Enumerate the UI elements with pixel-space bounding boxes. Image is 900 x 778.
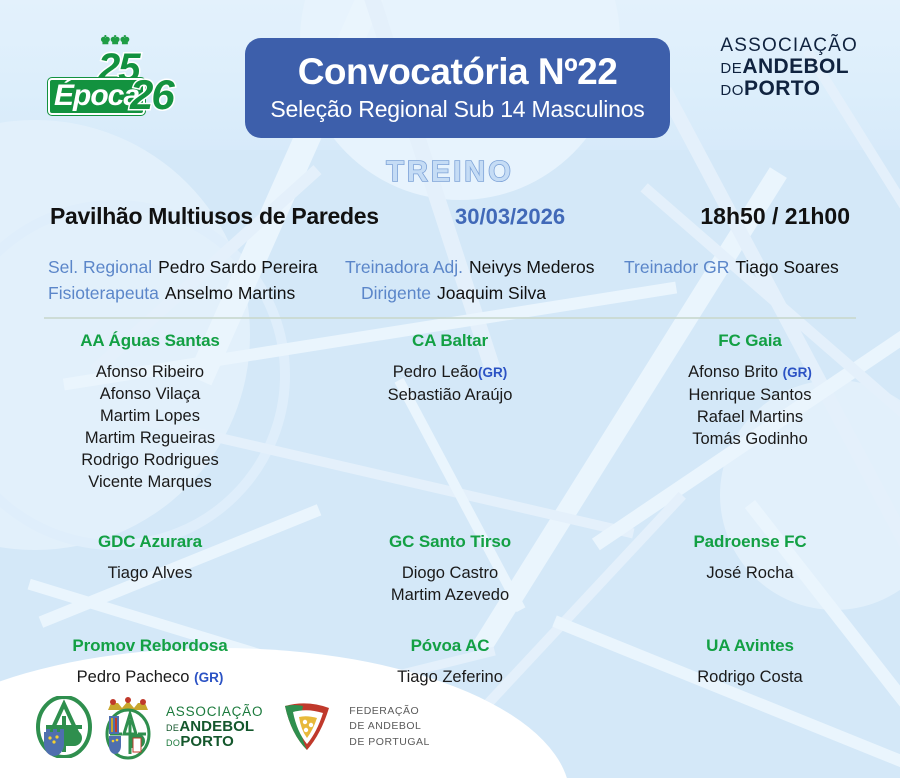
wordmark-line-3: DOPORTO	[720, 78, 858, 100]
club-name: CA Baltar	[308, 331, 592, 351]
player-entry: Diogo Castro	[308, 562, 592, 584]
crown-icon: ♚♚♚	[100, 34, 129, 46]
player-name: Diogo Castro	[402, 564, 498, 582]
player-name: Afonso Brito	[688, 363, 778, 381]
page-subtitle: Seleção Regional Sub 14 Masculinos	[270, 96, 644, 122]
season-end-year: 26	[130, 74, 173, 116]
club-name: FC Gaia	[608, 331, 892, 351]
wordmark-line-2: DEANDEBOL	[720, 56, 858, 78]
club-block-aguas-santas: AA Águas Santas Afonso Ribeiro Afonso Vi…	[0, 331, 300, 493]
player-entry: Rodrigo Costa	[608, 666, 892, 688]
staff-name: Anselmo Martins	[165, 280, 295, 306]
player-entry: Vicente Marques	[8, 471, 292, 493]
club-name: Póvoa AC	[308, 636, 592, 656]
porto-crest-icon	[100, 694, 156, 760]
staff-row-2: Fisioterapeuta Anselmo Martins Dirigente…	[0, 280, 900, 306]
player-name: Rodrigo Costa	[697, 668, 802, 686]
player-entry: Martim Lopes	[8, 405, 292, 427]
staff-role: Sel. Regional	[48, 254, 152, 280]
club-row: Promov Rebordosa Pedro Pacheco (GR) Póvo…	[0, 636, 900, 689]
footer-wordmark-do: DO	[166, 738, 180, 748]
player-name: Rodrigo Rodrigues	[81, 451, 219, 469]
player-entry: Rodrigo Rodrigues	[8, 449, 292, 471]
federacao-wordmark: FEDERAÇÃO DE ANDEBOL DE PORTUGAL	[349, 704, 430, 750]
player-name: José Rocha	[706, 564, 793, 582]
wordmark-de: DE	[720, 60, 742, 77]
staff-entry-treinador-gr: Treinador GR Tiago Soares	[624, 254, 839, 280]
club-block-promov-rebordosa: Promov Rebordosa Pedro Pacheco (GR)	[0, 636, 300, 689]
staff-entry-fisioterapeuta: Fisioterapeuta Anselmo Martins	[48, 280, 295, 306]
club-name: AA Águas Santas	[8, 331, 292, 351]
wordmark-andebol: ANDEBOL	[742, 55, 849, 78]
event-type-label: TREINO	[0, 156, 900, 189]
staff-role: Treinador GR	[624, 254, 729, 280]
venue-name: Pavilhão Multiusos de Paredes	[50, 203, 379, 230]
staff-name: Neivys Mederos	[469, 254, 594, 280]
player-name: Afonso Vilaça	[100, 385, 201, 403]
player-entry: Pedro Leão(GR)	[308, 361, 592, 384]
event-date: 30/03/2026	[455, 204, 565, 230]
club-row: AA Águas Santas Afonso Ribeiro Afonso Vi…	[0, 331, 900, 493]
footer-wordmark-line-2: DEANDEBOL	[166, 719, 263, 734]
club-block-ua-avintes: UA Avintes Rodrigo Costa	[600, 636, 900, 689]
staff-entry-sel-regional: Sel. Regional Pedro Sardo Pereira	[48, 254, 318, 280]
staff-role: Treinadora Adj.	[345, 254, 463, 280]
player-name: Pedro Leão	[393, 363, 478, 381]
player-entry: Tiago Zeferino	[308, 666, 592, 688]
staff-role: Fisioterapeuta	[48, 280, 159, 306]
staff-name: Joaquim Silva	[437, 280, 546, 306]
title-banner: Convocatória Nº22 Seleção Regional Sub 1…	[245, 38, 670, 138]
player-entry: Martim Regueiras	[8, 427, 292, 449]
clubs-grid: AA Águas Santas Afonso Ribeiro Afonso Vi…	[0, 331, 900, 689]
club-name: Padroense FC	[608, 532, 892, 552]
player-entry: Afonso Vilaça	[8, 383, 292, 405]
player-entry: Sebastião Araújo	[308, 384, 592, 406]
event-info-row: Pavilhão Multiusos de Paredes 30/03/2026…	[0, 203, 900, 233]
goalkeeper-badge: (GR)	[194, 670, 223, 685]
wordmark-line-1: ASSOCIAÇÃO	[720, 36, 858, 56]
page-title: Convocatória Nº22	[298, 53, 618, 92]
staff-name: Pedro Sardo Pereira	[158, 254, 318, 280]
season-logo: ♚♚♚ 25 Época 26	[48, 34, 188, 126]
club-name: GDC Azurara	[8, 532, 292, 552]
player-name: Tiago Alves	[108, 564, 193, 582]
footer-association-wordmark: ASSOCIAÇÃO DEANDEBOL DOPORTO	[166, 705, 263, 749]
club-block-padroense-fc: Padroense FC José Rocha	[600, 532, 900, 606]
club-row-spacer	[0, 606, 900, 636]
player-name: Afonso Ribeiro	[96, 363, 204, 381]
player-entry: Afonso Brito (GR)	[608, 361, 892, 384]
wordmark-do: DO	[720, 82, 744, 99]
staff-entry-treinadora-adj: Treinadora Adj. Neivys Mederos	[345, 254, 595, 280]
player-entry: Tomás Godinho	[608, 428, 892, 450]
player-name: Tomás Godinho	[692, 430, 808, 448]
player-name: Sebastião Araújo	[388, 386, 513, 404]
club-row-spacer	[0, 493, 900, 532]
footer-wordmark-de: DE	[166, 723, 179, 733]
club-row: GDC Azurara Tiago Alves GC Santo Tirso D…	[0, 532, 900, 606]
footer-wordmark-porto: PORTO	[180, 733, 234, 750]
player-name: Vicente Marques	[88, 473, 212, 491]
club-block-fc-gaia: FC Gaia Afonso Brito (GR) Henrique Santo…	[600, 331, 900, 493]
footer-wordmark-line-3: DOPORTO	[166, 734, 263, 749]
player-name: Pedro Pacheco	[77, 668, 190, 686]
player-entry: Martim Azevedo	[308, 584, 592, 606]
player-entry: Henrique Santos	[608, 384, 892, 406]
club-name: GC Santo Tirso	[308, 532, 592, 552]
association-wordmark: ASSOCIAÇÃO DEANDEBOL DOPORTO	[720, 36, 858, 100]
event-time: 18h50 / 21h00	[700, 203, 850, 230]
club-block-gc-santo-tirso: GC Santo Tirso Diogo Castro Martim Azeve…	[300, 532, 600, 606]
player-name: Henrique Santos	[689, 386, 812, 404]
player-entry: José Rocha	[608, 562, 892, 584]
wordmark-porto: PORTO	[744, 77, 820, 100]
goalkeeper-badge: (GR)	[478, 365, 507, 380]
federacao-line-1: FEDERAÇÃO	[349, 704, 430, 719]
player-entry: Pedro Pacheco (GR)	[8, 666, 292, 689]
staff-row-1: Sel. Regional Pedro Sardo Pereira Treina…	[0, 254, 900, 280]
club-block-ca-baltar: CA Baltar Pedro Leão(GR) Sebastião Araúj…	[300, 331, 600, 493]
federacao-andebol-portugal-icon	[281, 700, 333, 754]
section-divider	[44, 317, 856, 319]
staff-entry-dirigente: Dirigente Joaquim Silva	[361, 280, 546, 306]
player-entry: Rafael Martins	[608, 406, 892, 428]
player-entry: Tiago Alves	[8, 562, 292, 584]
club-name: UA Avintes	[608, 636, 892, 656]
club-block-povoa-ac: Póvoa AC Tiago Zeferino	[300, 636, 600, 689]
player-name: Martim Azevedo	[391, 586, 509, 604]
player-entry: Afonso Ribeiro	[8, 361, 292, 383]
footer-logos: ASSOCIAÇÃO DEANDEBOL DOPORTO FEDERAÇÃO D…	[36, 694, 430, 760]
footer-wordmark-line-1: ASSOCIAÇÃO	[166, 705, 263, 719]
convocatoria-poster: ♚♚♚ 25 Época 26 Convocatória Nº22 Seleçã…	[0, 0, 900, 778]
club-block-gdc-azurara: GDC Azurara Tiago Alves	[0, 532, 300, 606]
federacao-line-3: DE PORTUGAL	[349, 735, 430, 750]
player-name: Martim Regueiras	[85, 429, 215, 447]
player-name: Tiago Zeferino	[397, 668, 503, 686]
goalkeeper-badge: (GR)	[783, 365, 812, 380]
staff-role: Dirigente	[361, 280, 431, 306]
staff-name: Tiago Soares	[735, 254, 838, 280]
federacao-line-2: DE ANDEBOL	[349, 719, 430, 734]
club-name: Promov Rebordosa	[8, 636, 292, 656]
player-name: Rafael Martins	[697, 408, 803, 426]
player-name: Martim Lopes	[100, 407, 200, 425]
staff-section: Sel. Regional Pedro Sardo Pereira Treina…	[0, 254, 900, 306]
aap-crest-icon	[36, 696, 92, 758]
